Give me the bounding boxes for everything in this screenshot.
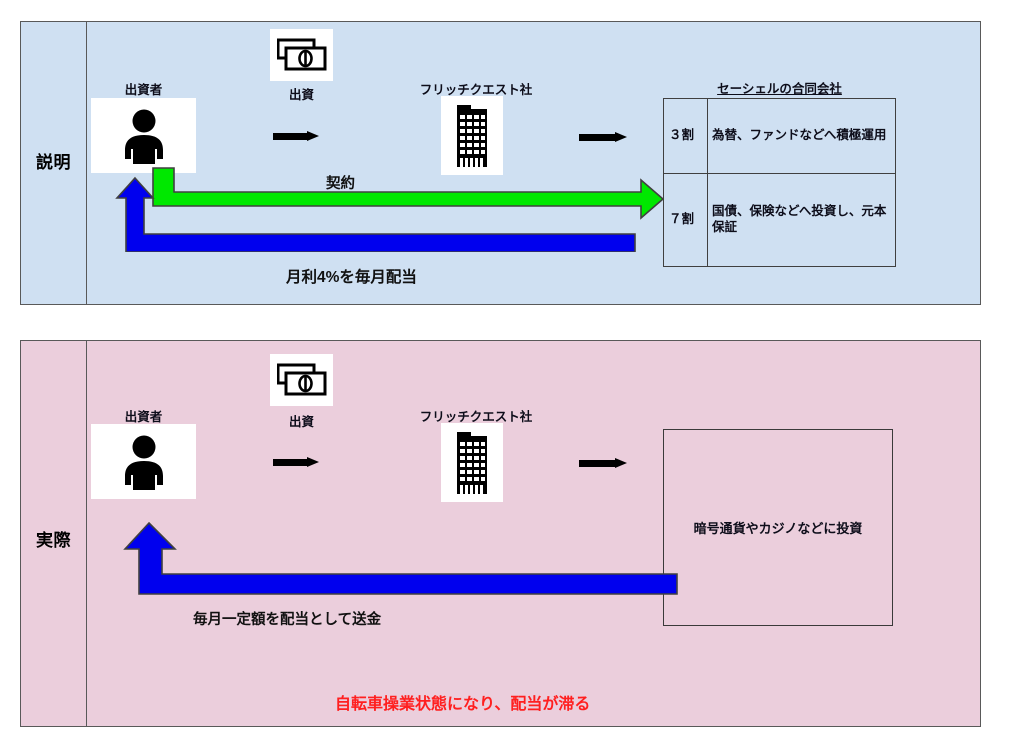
- right-arrow-icon-2: [579, 458, 627, 469]
- table-cell-percent: ３割: [664, 99, 708, 174]
- table-cell-percent: ７割: [664, 174, 708, 267]
- dividend-label: 月利4%を毎月配当: [286, 265, 417, 287]
- person-icon: [119, 107, 169, 165]
- money-icon-box: [270, 29, 333, 81]
- panel-explanation: 説明 出資 出資者 フリッチクエスト社: [20, 21, 981, 305]
- right-arrow-icon-2: [579, 132, 627, 143]
- money-bills-icon: [277, 363, 327, 397]
- green-contract-arrow-icon: [129, 166, 666, 228]
- person-icon: [119, 433, 169, 491]
- table-title: セーシェルの合同会社: [663, 78, 896, 97]
- table-cell-desc: 為替、ファンドなどへ積極運用: [708, 99, 896, 174]
- office-building-icon: [449, 430, 495, 496]
- row-label-explanation: 説明: [21, 148, 86, 173]
- row-label-actual: 実際: [21, 526, 86, 551]
- contract-label: 契約: [326, 172, 355, 193]
- destination-box-label: 暗号通貨やカジノなどに投資: [694, 518, 863, 537]
- person-icon-box: [91, 98, 196, 173]
- panel-actual: 実際 出資 出資者 フリッチクエスト社: [20, 340, 981, 727]
- investment-caption: 出資: [270, 84, 333, 103]
- office-building-icon: [449, 103, 495, 169]
- table-cell-desc: 国債、保険などへ投資し、元本保証: [708, 174, 896, 267]
- investment-caption: 出資: [270, 411, 333, 430]
- building-icon-box: [441, 96, 503, 175]
- investor-caption: 出資者: [91, 406, 196, 425]
- table-row: ３割 為替、ファンドなどへ積極運用: [664, 99, 896, 174]
- investor-caption: 出資者: [91, 79, 196, 98]
- person-icon-box: [91, 424, 196, 499]
- money-bills-icon: [277, 38, 327, 72]
- right-arrow-icon-1: [273, 131, 319, 142]
- right-arrow-icon-1: [273, 457, 319, 468]
- row-divider-explanation: [86, 22, 87, 304]
- table-row: ７割 国債、保険などへ投資し、元本保証: [664, 174, 896, 267]
- warning-label: 自転車操業状態になり、配当が滞る: [335, 690, 590, 714]
- blue-remittance-arrow-icon: [109, 521, 679, 596]
- remittance-label: 毎月一定額を配当として送金: [193, 608, 381, 629]
- allocation-table: ３割 為替、ファンドなどへ積極運用 ７割 国債、保険などへ投資し、元本保証: [663, 98, 896, 267]
- money-icon-box: [270, 354, 333, 406]
- row-divider-actual: [86, 341, 87, 726]
- destination-box: 暗号通貨やカジノなどに投資: [663, 429, 893, 626]
- building-icon-box: [441, 423, 503, 502]
- blue-dividend-arrow-icon: [109, 162, 637, 252]
